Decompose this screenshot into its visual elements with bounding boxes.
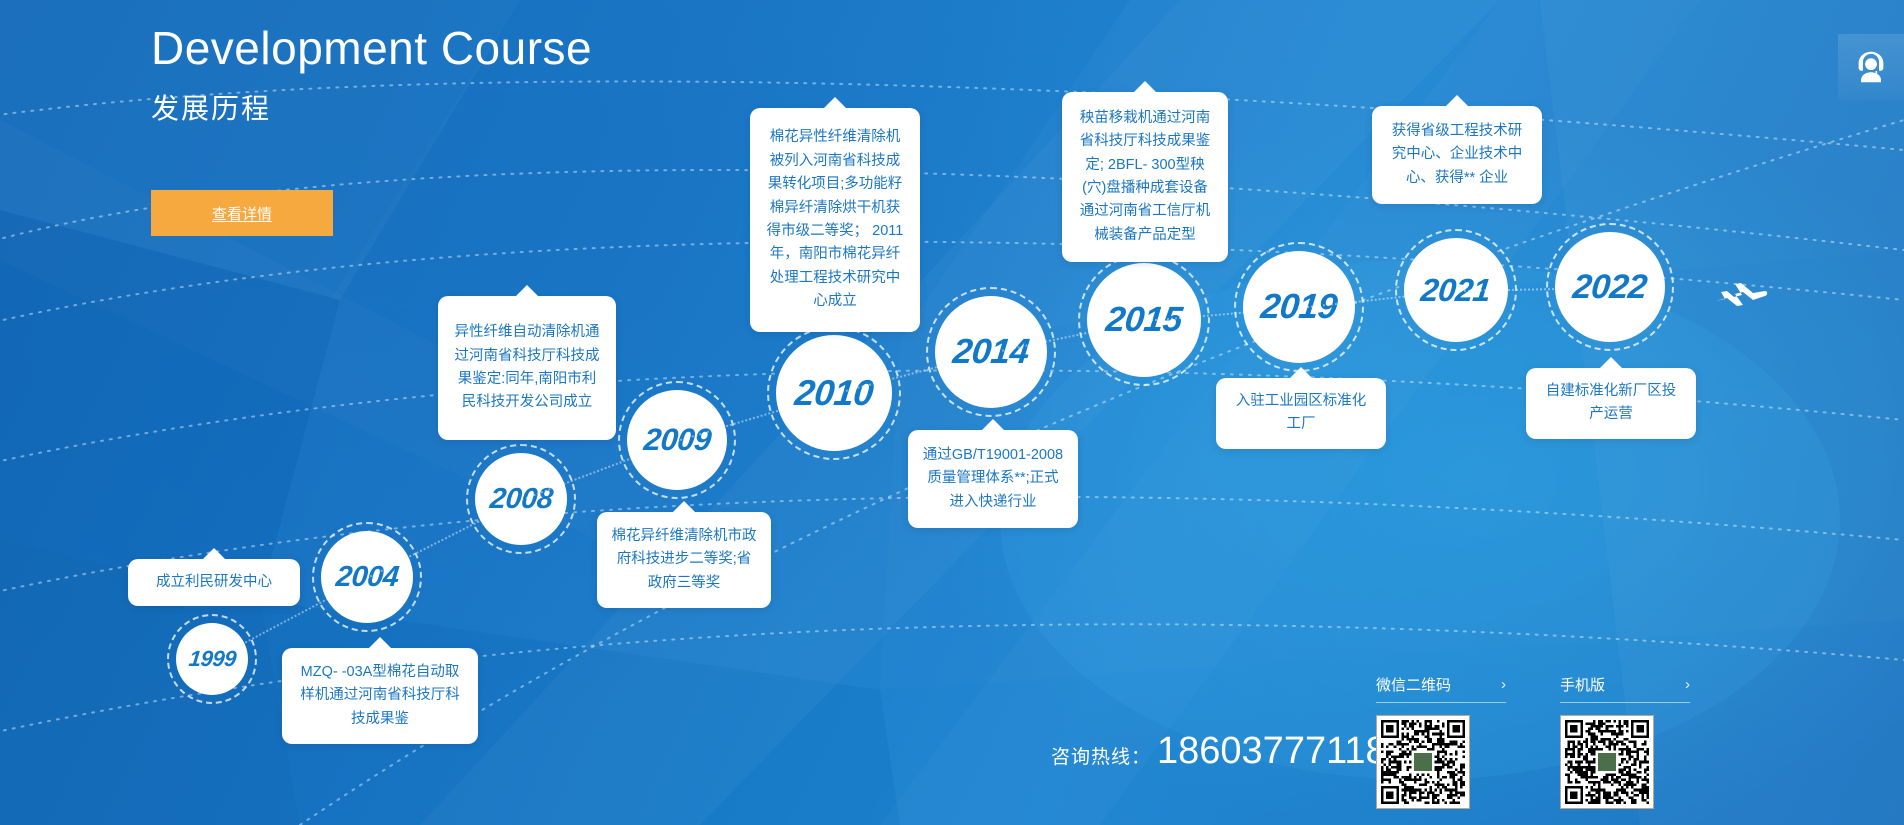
timeline-card-text: 获得省级工程技术研究中心、企业技术中心、获得** 企业 (1386, 120, 1528, 190)
timeline-card-2019[interactable]: 入驻工业园区标准化工厂 (1216, 378, 1386, 449)
timeline-year-2009[interactable]: 2009 (627, 390, 727, 490)
page-header: Development Course 发展历程 (151, 22, 592, 127)
page-root: Development Course 发展历程 查看详情 1999成立利民研发中… (0, 0, 1904, 825)
timeline-year-1999[interactable]: 1999 (176, 623, 248, 695)
view-details-button[interactable]: 查看详情 (151, 190, 333, 236)
timeline-year-label: 1999 (187, 646, 237, 672)
timeline-year-label: 2019 (1259, 287, 1339, 327)
timeline-year-2014[interactable]: 2014 (935, 296, 1047, 408)
page-title-cn: 发展历程 (151, 87, 592, 127)
card-pointer (369, 637, 391, 648)
timeline-card-text: 异性纤维自动清除机通过河南省科技厅科技成果鉴定:同年,南阳市利民科技开发公司成立 (452, 321, 602, 415)
card-pointer (1290, 367, 1312, 378)
timeline-card-2009[interactable]: 棉花异纤维清除机市政府科技进步二等奖;省政府三等奖 (597, 512, 771, 608)
card-pointer (1600, 357, 1622, 368)
timeline-year-label: 2004 (334, 561, 400, 594)
card-pointer (1134, 81, 1156, 92)
page-title-en: Development Course (151, 22, 592, 75)
timeline-card-text: 秧苗移栽机通过河南省科技厅科技成果鉴定; 2BFL- 300型秧(穴)盘播种成套… (1076, 107, 1214, 248)
card-pointer (203, 548, 225, 559)
timeline-year-2004[interactable]: 2004 (321, 531, 413, 623)
qr-code-image (1560, 715, 1654, 809)
timeline-year-label: 2008 (488, 483, 554, 516)
timeline-card-2008[interactable]: 异性纤维自动清除机通过河南省科技厅科技成果鉴定:同年,南阳市利民科技开发公司成立 (438, 296, 616, 440)
timeline-card-2014[interactable]: 通过GB/T19001-2008质量管理体系**;正式进入快递行业 (908, 430, 1078, 528)
timeline-card-text: 成立利民研发中心 (156, 571, 272, 594)
qr-panel-label: 微信二维码 (1376, 674, 1451, 695)
timeline-year-2022[interactable]: 2022 (1555, 232, 1665, 342)
card-pointer (824, 97, 846, 108)
timeline-card-text: 通过GB/T19001-2008质量管理体系**;正式进入快递行业 (922, 444, 1064, 514)
qr-panel-label: 手机版 (1560, 674, 1605, 695)
card-pointer (516, 285, 538, 296)
timeline-year-2015[interactable]: 2015 (1087, 263, 1201, 377)
timeline-card-2010[interactable]: 棉花异性纤维清除机被列入河南省科技成果转化项目;多功能籽棉异纤清除烘干机获得市级… (750, 108, 920, 332)
qr-panel-mobile[interactable]: 手机版 › (1560, 674, 1690, 809)
timeline-year-label: 2015 (1104, 300, 1184, 340)
hotline-label: 咨询热线： (1051, 742, 1151, 769)
timeline-card-2021[interactable]: 获得省级工程技术研究中心、企业技术中心、获得** 企业 (1372, 106, 1542, 204)
timeline-year-label: 2022 (1571, 268, 1649, 307)
timeline-year-2010[interactable]: 2010 (776, 335, 892, 451)
timeline-year-label: 2014 (951, 332, 1031, 372)
card-pointer (673, 501, 695, 512)
timeline-card-text: MZQ- -03A型棉花自动取样机通过河南省科技厅科技成果鉴 (296, 661, 464, 731)
chevron-right-icon: › (1501, 676, 1506, 693)
timeline-card-text: 入驻工业园区标准化工厂 (1230, 390, 1372, 437)
timeline-year-2019[interactable]: 2019 (1243, 251, 1355, 363)
timeline-card-2015[interactable]: 秧苗移栽机通过河南省科技厅科技成果鉴定; 2BFL- 300型秧(穴)盘播种成套… (1062, 92, 1228, 262)
qr-code-image (1376, 715, 1470, 809)
timeline-year-label: 2010 (793, 372, 876, 414)
qr-panel-header[interactable]: 手机版 › (1560, 674, 1690, 703)
card-pointer (1446, 95, 1468, 106)
customer-service-button[interactable] (1838, 34, 1904, 100)
timeline-card-1999[interactable]: 成立利民研发中心 (128, 559, 300, 606)
timeline-card-text: 棉花异纤维清除机市政府科技进步二等奖;省政府三等奖 (611, 525, 757, 595)
qr-panel-header[interactable]: 微信二维码 › (1376, 674, 1506, 703)
headset-operator-icon (1852, 48, 1890, 86)
timeline-card-2022[interactable]: 自建标准化新厂区投产运营 (1526, 368, 1696, 439)
timeline-year-label: 2009 (642, 422, 713, 458)
view-details-label: 查看详情 (212, 203, 272, 224)
timeline-year-2021[interactable]: 2021 (1404, 238, 1508, 342)
chevron-right-icon: › (1685, 676, 1690, 693)
timeline-year-label: 2021 (1419, 272, 1492, 309)
qr-panel-wechat[interactable]: 微信二维码 › (1376, 674, 1506, 809)
timeline-card-2004[interactable]: MZQ- -03A型棉花自动取样机通过河南省科技厅科技成果鉴 (282, 648, 478, 744)
timeline-card-text: 棉花异性纤维清除机被列入河南省科技成果转化项目;多功能籽棉异纤清除烘干机获得市级… (764, 126, 906, 314)
timeline-card-text: 自建标准化新厂区投产运营 (1540, 380, 1682, 427)
card-pointer (982, 419, 1004, 430)
hotline-number: 18603777118 (1157, 730, 1387, 773)
hotline: 咨询热线： 18603777118 (1051, 730, 1387, 773)
timeline-year-2008[interactable]: 2008 (475, 453, 567, 545)
